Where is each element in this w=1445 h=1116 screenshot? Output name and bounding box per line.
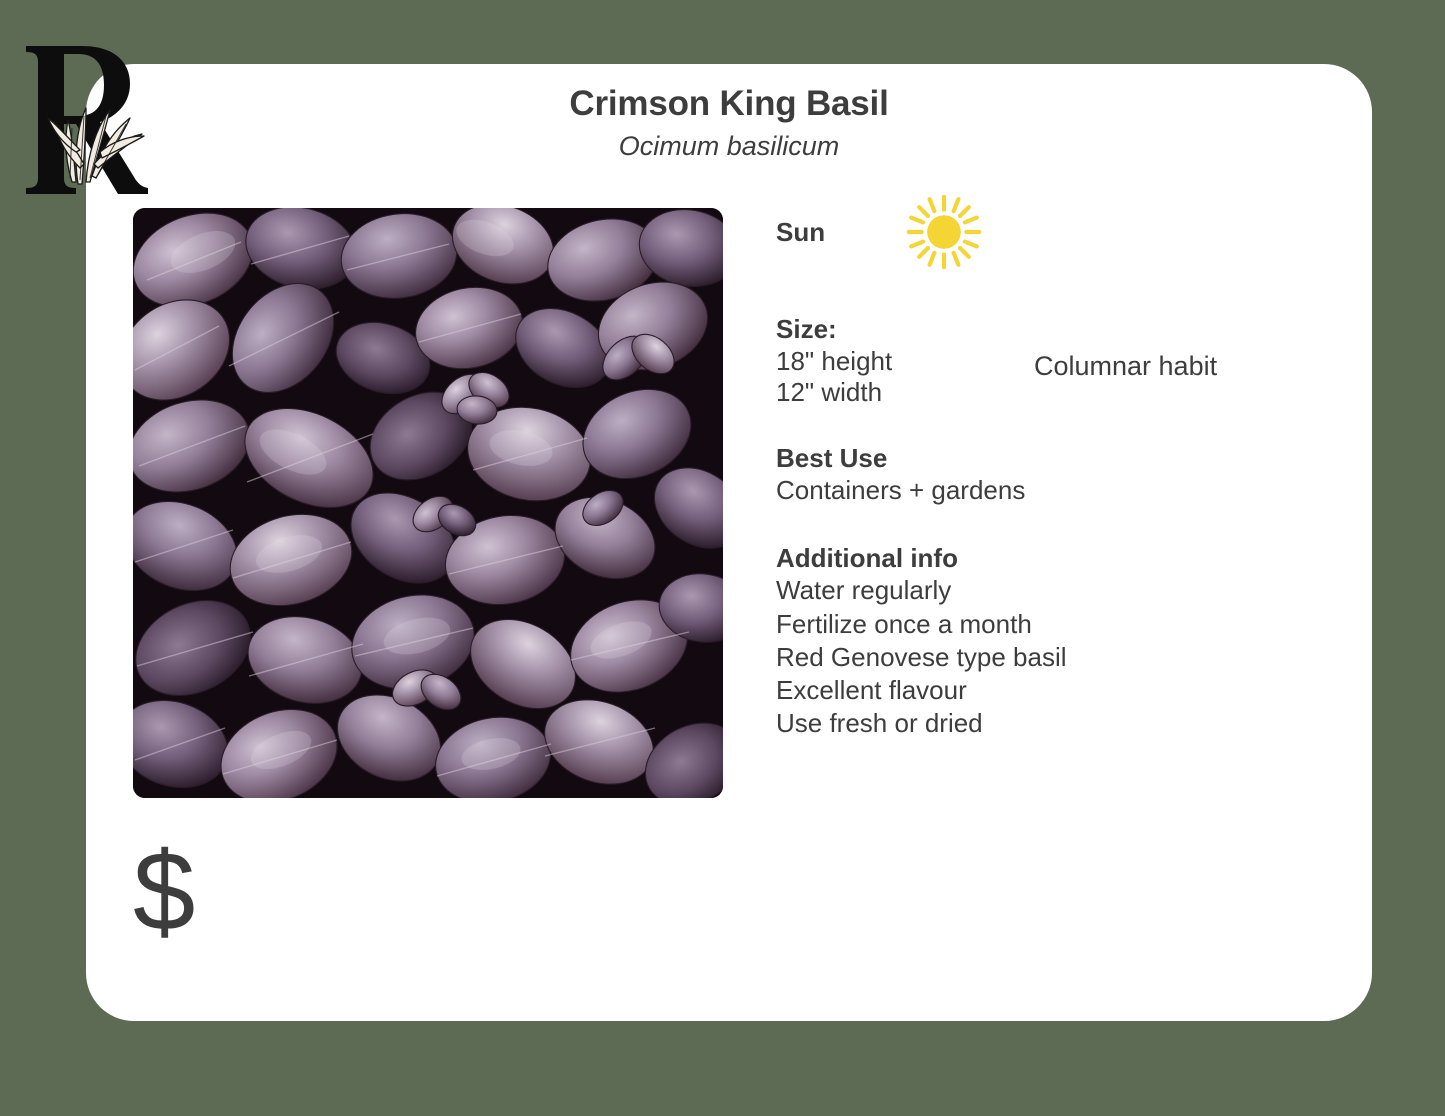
size-block: Size: 18" height 12" width Columnar habi… — [776, 314, 1336, 409]
additional-info-block: Additional info Water regularly Fertiliz… — [776, 543, 1336, 741]
best-use-heading: Best Use — [776, 443, 1336, 475]
additional-info-line: Water regularly — [776, 574, 1336, 607]
sun-icon — [903, 192, 985, 272]
price-row: $ — [133, 836, 201, 948]
size-heading: Size: — [776, 314, 1336, 346]
plant-info-card: Crimson King Basil Ocimum basilicum — [86, 64, 1372, 1021]
additional-info-line: Fertilize once a month — [776, 608, 1336, 641]
purple-basil-leaves-photo — [133, 208, 723, 798]
best-use-block: Best Use Containers + gardens — [776, 443, 1336, 506]
best-use-value: Containers + gardens — [776, 475, 1336, 507]
brand-logo — [14, 32, 164, 204]
additional-info-line: Red Genovese type basil — [776, 641, 1336, 674]
additional-info-line: Use fresh or dried — [776, 707, 1336, 740]
habit-note: Columnar habit — [1034, 350, 1217, 383]
sun-requirement-row: Sun — [776, 202, 1336, 262]
info-column: Sun — [776, 202, 1336, 741]
additional-info-line: Excellent flavour — [776, 674, 1336, 707]
sun-label: Sun — [776, 217, 825, 248]
card-header: Crimson King Basil Ocimum basilicum — [86, 84, 1372, 162]
page-title: Crimson King Basil — [86, 84, 1372, 124]
additional-info-heading: Additional info — [776, 543, 1336, 575]
price-currency-symbol: $ — [133, 836, 195, 948]
botanical-name: Ocimum basilicum — [86, 131, 1372, 162]
